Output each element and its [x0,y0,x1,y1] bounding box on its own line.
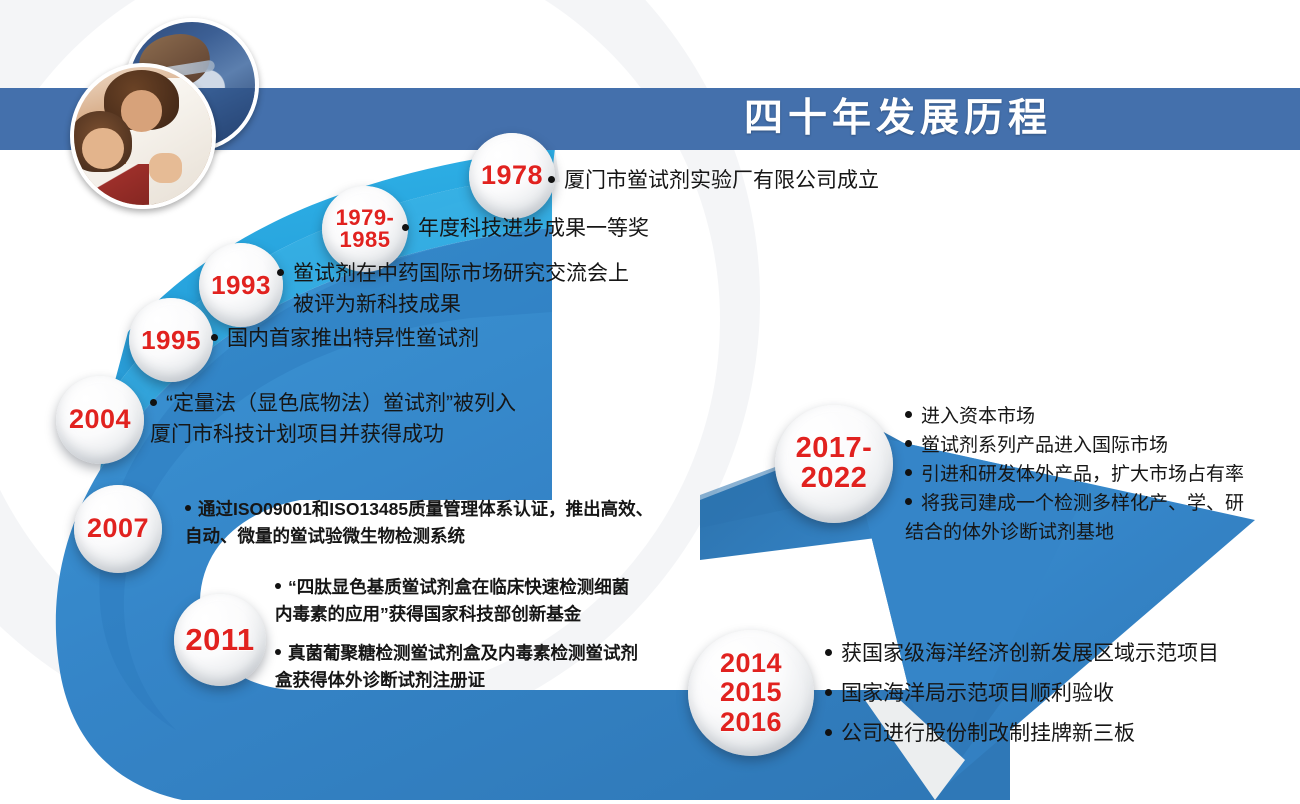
event-block-1979-1985: 年度科技进步成果一等奖 [402,213,649,244]
year-bubble-2017-2022[interactable]: 2017- 2022 [775,405,893,523]
year-label-2016: 2016 [720,709,782,737]
bullet-icon [275,583,281,589]
bullet-icon [277,269,284,276]
timeline-infographic: 四十年发展历程 1978 厦门市鲎试剂实验厂有限公司成立 1979- 1985 … [0,0,1300,804]
event-line: 国内首家推出特异性鲎试剂 [211,323,479,354]
bullet-icon [402,224,409,231]
event-block-1995: 国内首家推出特异性鲎试剂 [211,323,479,354]
event-block-2007: 通过ISO09001和ISO13485质量管理体系认证，推出高效、 自动、微量的… [185,496,653,550]
bullet-icon [150,399,157,406]
year-label-1985: 1985 [340,229,391,251]
year-bubble-2007[interactable]: 2007 [74,485,162,573]
event-line: 盒获得体外诊断试剂注册证 [275,667,638,694]
bullet-icon [185,505,191,511]
event-line: 年度科技进步成果一等奖 [402,213,649,244]
year-label-1979: 1979- [336,207,395,229]
event-block-2011: “四肽显色基质鲎试剂盒在临床快速检测细菌 内毒素的应用”获得国家科技部创新基金 … [275,574,638,694]
year-bubble-2004[interactable]: 2004 [56,376,144,464]
event-block-2017-2022: 进入资本市场 鲎试剂系列产品进入国际市场 引进和研发体外产品，扩大市场占有率 将… [905,402,1244,547]
year-bubble-1993[interactable]: 1993 [199,243,283,327]
event-line: 公司进行股份制改制挂牌新三板 [825,714,1219,754]
year-label-1995: 1995 [141,327,201,354]
photo-detail-hand [149,153,182,183]
year-label-1993: 1993 [211,272,271,299]
bullet-icon [825,729,832,736]
bullet-icon [275,649,281,655]
event-block-2014-2016: 获国家级海洋经济创新发展区域示范项目 国家海洋局示范项目顺利验收 公司进行股份制… [825,634,1219,754]
year-bubble-1995[interactable]: 1995 [129,298,213,382]
event-line: 自动、微量的鲎试验微生物检测系统 [185,523,653,550]
photo-detail-face-child [82,128,123,169]
event-line: “四肽显色基质鲎试剂盒在临床快速检测细菌 [275,574,638,601]
year-label-1978: 1978 [481,162,543,190]
event-line: 真菌葡聚糖检测鲎试剂盒及内毒素检测鲎试剂 [275,640,638,667]
year-label-2011: 2011 [185,624,254,656]
year-bubble-2014-2016[interactable]: 2014 2015 2016 [688,630,814,756]
event-block-1978: 厦门市鲎试剂实验厂有限公司成立 [548,165,879,196]
year-label-2015: 2015 [720,679,782,707]
bullet-icon [211,334,218,341]
page-title: 四十年发展历程 [744,96,1052,142]
year-label-2022: 2022 [801,464,868,494]
event-line: 厦门市科技计划项目并获得成功 [150,419,516,450]
event-line: 鲎试剂在中药国际市场研究交流会上 [277,258,629,289]
event-line: 厦门市鲎试剂实验厂有限公司成立 [548,165,879,196]
event-line: 进入资本市场 [905,402,1244,431]
event-line: 通过ISO09001和ISO13485质量管理体系认证，推出高效、 [185,496,653,523]
event-line: 鲎试剂系列产品进入国际市场 [905,431,1244,460]
year-label-2004: 2004 [69,406,131,434]
event-line: 将我司建成一个检测多样化产、学、研 [905,489,1244,518]
year-label-2014: 2014 [720,650,782,678]
bullet-icon [548,176,555,183]
event-block-2004: “定量法（显色底物法）鲎试剂”被列入 厦门市科技计划项目并获得成功 [150,388,516,450]
event-line: “定量法（显色底物法）鲎试剂”被列入 [150,388,516,419]
event-line: 获国家级海洋经济创新发展区域示范项目 [825,634,1219,674]
bullet-icon [825,649,832,656]
bullet-icon [905,498,912,505]
event-line: 引进和研发体外产品，扩大市场占有率 [905,460,1244,489]
event-line: 结合的体外诊断试剂基地 [905,518,1244,547]
year-label-2017: 2017- [796,434,873,464]
doctor-and-child-photo [70,63,216,209]
year-bubble-2011[interactable]: 2011 [174,594,266,686]
event-line: 国家海洋局示范项目顺利验收 [825,674,1219,714]
event-line: 内毒素的应用”获得国家科技部创新基金 [275,601,638,628]
year-label-2007: 2007 [87,515,149,543]
bullet-icon [905,469,912,476]
bullet-icon [825,689,832,696]
bullet-icon [905,440,912,447]
bullet-icon [905,411,912,418]
event-block-1993: 鲎试剂在中药国际市场研究交流会上 被评为新科技成果 [277,258,629,320]
year-bubble-1978[interactable]: 1978 [469,133,555,219]
event-line: 被评为新科技成果 [277,289,629,320]
